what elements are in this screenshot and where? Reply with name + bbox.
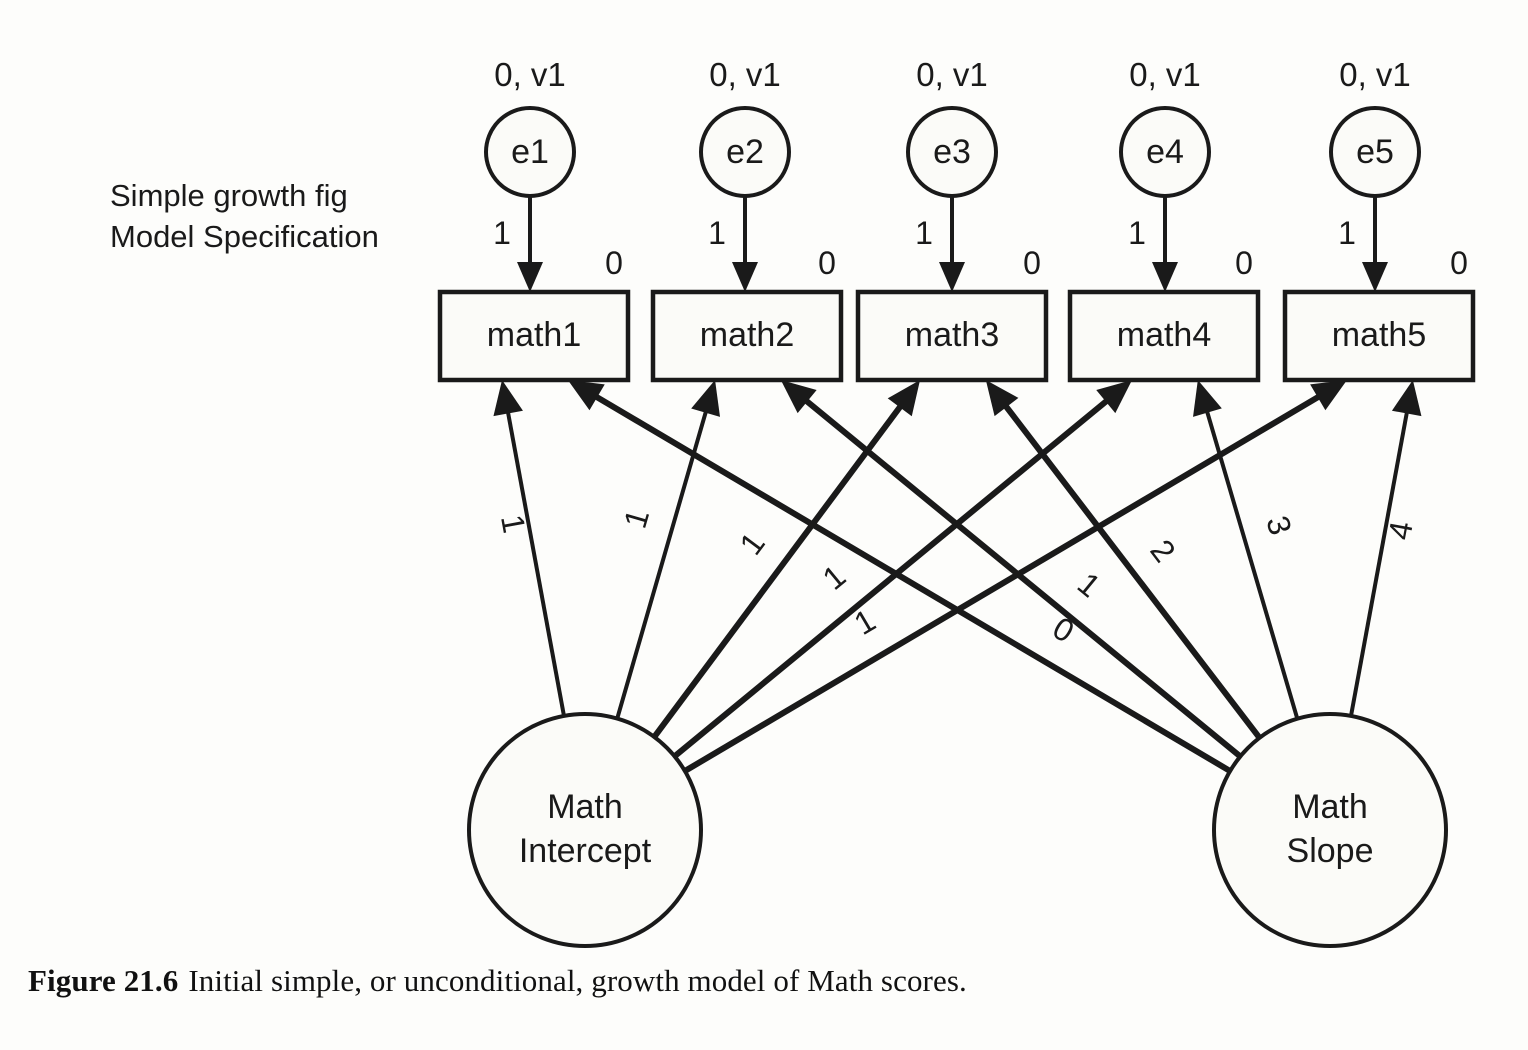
- loading-label-math-slope-math2: 1: [1071, 565, 1108, 604]
- indicator-label-math3: math3: [905, 316, 1000, 354]
- factor-label-math-slope-line2: Slope: [1287, 832, 1374, 870]
- error-param-e1: 0, v1: [494, 56, 566, 93]
- error-loading-e3: 1: [915, 215, 933, 251]
- error-edges: [517, 196, 1388, 292]
- loading-path-math-slope-math1: [590, 393, 1230, 771]
- error-arrowhead-e3: [939, 262, 965, 292]
- indicator-label-math5: math5: [1332, 316, 1427, 354]
- loading-label-math-intercept-math1: 1: [494, 512, 533, 536]
- loading-path-math-slope-math4: [1205, 405, 1297, 719]
- indicator-intercept-math5: 0: [1450, 245, 1468, 281]
- indicator-label-math4: math4: [1117, 316, 1212, 354]
- error-arrowhead-e2: [732, 262, 758, 292]
- loading-arrowhead-math-slope-math5: [1392, 380, 1422, 416]
- indicator-intercept-math3: 0: [1023, 245, 1041, 281]
- error-loading-e4: 1: [1128, 215, 1146, 251]
- loading-label-math-slope-math1: 0: [1047, 610, 1081, 650]
- indicator-label-math2: math2: [700, 316, 795, 354]
- loading-arrowhead-math-slope-math3: [986, 380, 1019, 416]
- loading-path-math-slope-math2: [801, 396, 1240, 756]
- loading-path-math-intercept-math4: [675, 397, 1112, 757]
- error-arrowhead-e5: [1362, 262, 1388, 292]
- figure-caption-text: Initial simple, or unconditional, growth…: [188, 963, 966, 998]
- factor-loading-edges: [493, 380, 1421, 771]
- error-param-e5: 0, v1: [1339, 56, 1411, 93]
- indicator-intercept-math2: 0: [818, 245, 836, 281]
- figure-root: math10math20math30math40math50 e10, v11e…: [0, 0, 1528, 1050]
- loading-label-math-intercept-math2: 1: [617, 505, 657, 532]
- loading-path-math-slope-math5: [1351, 406, 1408, 716]
- loading-arrowhead-math-intercept-math1: [493, 380, 523, 416]
- error-loading-e1: 1: [493, 215, 511, 251]
- indicator-intercept-math4: 0: [1235, 245, 1253, 281]
- loading-label-math-slope-math5: 4: [1381, 519, 1420, 543]
- factor-label-math-slope-line1: Math: [1292, 788, 1368, 826]
- factor-label-math-intercept-line1: Math: [547, 788, 623, 826]
- indicator-intercept-math1: 0: [605, 245, 623, 281]
- error-loading-e2: 1: [708, 215, 726, 251]
- loading-label-math-intercept-math4: 1: [816, 558, 853, 597]
- error-param-e4: 0, v1: [1129, 56, 1201, 93]
- error-label-e4: e4: [1146, 133, 1184, 171]
- error-label-e1: e1: [511, 133, 549, 171]
- error-loading-e5: 1: [1338, 215, 1356, 251]
- loading-label-math-slope-math3: 2: [1143, 533, 1182, 569]
- loading-arrowhead-math-intercept-math2: [691, 380, 720, 417]
- error-label-e3: e3: [933, 133, 971, 171]
- side-note: Simple growth fig Model Specification: [110, 176, 440, 258]
- error-arrowhead-e4: [1152, 262, 1178, 292]
- loading-label-math-slope-math4: 3: [1259, 512, 1299, 539]
- error-label-e2: e2: [726, 133, 764, 171]
- loading-label-math-intercept-math5: 1: [848, 602, 882, 642]
- error-label-e5: e5: [1356, 133, 1394, 171]
- figure-caption: Figure 21.6Initial simple, or unconditio…: [28, 963, 1488, 999]
- loading-label-math-intercept-math3: 1: [732, 526, 772, 562]
- sem-path-diagram: math10math20math30math40math50 e10, v11e…: [0, 0, 1528, 1050]
- factor-nodes: MathInterceptMathSlope: [469, 714, 1446, 946]
- loading-arrowhead-math-slope-math4: [1193, 380, 1222, 417]
- error-param-e2: 0, v1: [709, 56, 781, 93]
- figure-number: Figure 21.6: [28, 963, 178, 998]
- loading-arrowhead-math-intercept-math3: [888, 380, 920, 416]
- error-param-e3: 0, v1: [916, 56, 988, 93]
- factor-circle-math-slope: [1214, 714, 1446, 946]
- error-arrowhead-e1: [517, 262, 543, 292]
- factor-circle-math-intercept: [469, 714, 701, 946]
- factor-label-math-intercept-line2: Intercept: [519, 832, 652, 870]
- indicator-label-math1: math1: [487, 316, 582, 354]
- loading-path-math-intercept-math5: [685, 393, 1325, 771]
- loading-path-math-intercept-math1: [507, 406, 564, 716]
